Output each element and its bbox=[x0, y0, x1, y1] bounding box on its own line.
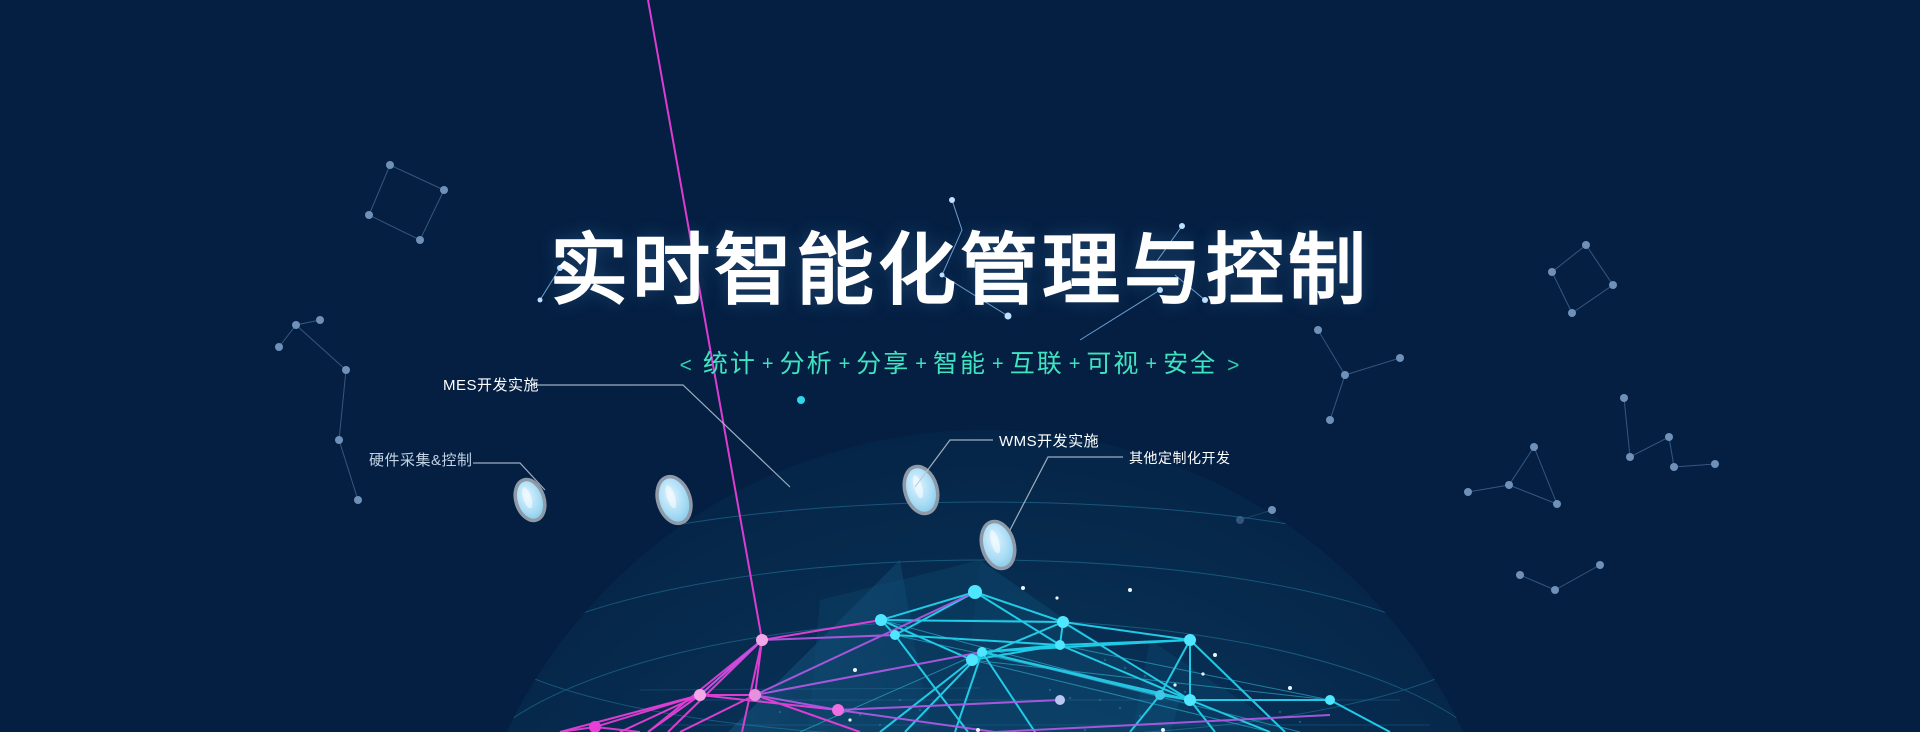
hero-banner: 实时智能化管理与控制 < 统计 + 分析 + 分享 + 智能 + 互联 + 可视… bbox=[0, 0, 1920, 732]
bracket-close-icon: > bbox=[1217, 354, 1250, 378]
callout-label-mes: MES开发实施 bbox=[443, 374, 539, 395]
callout-label-other: 其他定制化开发 bbox=[1129, 448, 1231, 468]
separator-icon-1: + bbox=[757, 353, 780, 376]
separator-icon-6: + bbox=[1140, 353, 1163, 376]
keyword-tongji: 统计 bbox=[703, 344, 757, 380]
keyword-anquan: 安全 bbox=[1163, 344, 1217, 380]
bracket-open-icon: < bbox=[670, 354, 703, 378]
keyword-tagline: < 统计 + 分析 + 分享 + 智能 + 互联 + 可视 + 安全 > bbox=[670, 344, 1251, 380]
keyword-fenxi: 分析 bbox=[780, 344, 834, 380]
hero-text-layer: 实时智能化管理与控制 < 统计 + 分析 + 分享 + 智能 + 互联 + 可视… bbox=[0, 0, 1920, 732]
subtitle-container: < 统计 + 分析 + 分享 + 智能 + 互联 + 可视 + 安全 > bbox=[0, 344, 1920, 380]
callout-label-hardware: 硬件采集&控制 bbox=[369, 449, 473, 470]
headline-container: 实时智能化管理与控制 bbox=[0, 232, 1920, 310]
callout-label-wms: WMS开发实施 bbox=[999, 430, 1099, 451]
separator-icon-5: + bbox=[1064, 353, 1087, 376]
keyword-hulian: 互联 bbox=[1010, 344, 1064, 380]
separator-icon-4: + bbox=[987, 353, 1010, 376]
separator-icon-2: + bbox=[834, 353, 857, 376]
keyword-keshi: 可视 bbox=[1086, 344, 1140, 380]
keyword-fenxiang: 分享 bbox=[856, 344, 910, 380]
keyword-zhineng: 智能 bbox=[933, 344, 987, 380]
separator-icon-3: + bbox=[910, 353, 933, 376]
page-title: 实时智能化管理与控制 bbox=[550, 232, 1370, 310]
